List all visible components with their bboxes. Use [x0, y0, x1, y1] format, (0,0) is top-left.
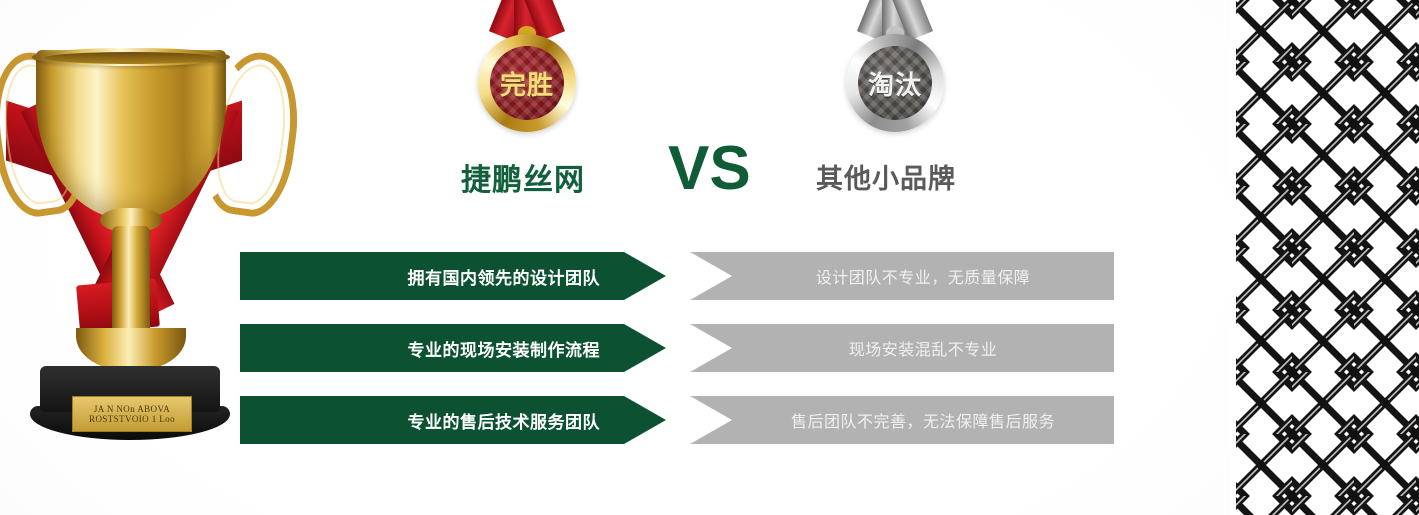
trophy-name-plate: JA N NOn ABOVA ROSTSTVOIO 1 Loo: [72, 396, 192, 432]
winner-brand-label: 捷鹏丝网: [461, 155, 585, 199]
con-bar-2: 现场安装混乱不专业: [690, 324, 1114, 372]
con-text-2: 现场安装混乱不专业: [849, 336, 998, 360]
gold-medal-label: 完胜: [490, 46, 564, 120]
pro-text-3: 专业的售后技术服务团队: [408, 408, 601, 433]
trophy-foot: [76, 328, 186, 370]
fence-mesh-svg: [1230, 0, 1419, 515]
pro-text-2: 专业的现场安装制作流程: [408, 336, 601, 361]
comparison-row: 专业的现场安装制作流程 现场安装混乱不专业: [240, 324, 1114, 372]
comparison-row: 专业的售后技术服务团队 售后团队不完善，无法保障售后服务: [240, 396, 1114, 444]
comparison-banner: JA N NOn ABOVA ROSTSTVOIO 1 Loo 完胜 淘汰 捷鹏…: [0, 0, 1419, 515]
silver-medal-disc: 淘汰: [846, 34, 944, 132]
plate-line-1: JA N NOn ABOVA: [94, 404, 170, 414]
con-bar-1: 设计团队不专业，无质量保障: [690, 252, 1114, 300]
vs-label: VS: [668, 138, 751, 200]
con-text-3: 售后团队不完善，无法保障售后服务: [791, 408, 1055, 432]
pro-arrow-2: 专业的现场安装制作流程: [240, 324, 666, 372]
pro-arrow-1: 拥有国内领先的设计团队: [240, 252, 666, 300]
gold-medal-disc: 完胜: [478, 34, 576, 132]
plate-line-2: ROSTSTVOIO 1 Loo: [89, 414, 175, 424]
comparison-row: 拥有国内领先的设计团队 设计团队不专业，无质量保障: [240, 252, 1114, 300]
loser-brand-label: 其他小品牌: [816, 157, 956, 196]
gold-medal-icon: 完胜: [478, 0, 576, 132]
pro-arrow-3: 专业的售后技术服务团队: [240, 396, 666, 444]
chain-link-fence-icon: [1230, 0, 1419, 515]
con-text-1: 设计团队不专业，无质量保障: [816, 264, 1031, 288]
silver-medal-icon: 淘汰: [846, 0, 944, 132]
con-bar-3: 售后团队不完善，无法保障售后服务: [690, 396, 1114, 444]
pro-text-1: 拥有国内领先的设计团队: [408, 264, 601, 289]
trophy-rim-inner: [44, 52, 218, 64]
silver-medal-label: 淘汰: [858, 46, 932, 120]
comparison-table: 拥有国内领先的设计团队 设计团队不专业，无质量保障 专业的现场安装制作流程 现场…: [240, 252, 1114, 444]
